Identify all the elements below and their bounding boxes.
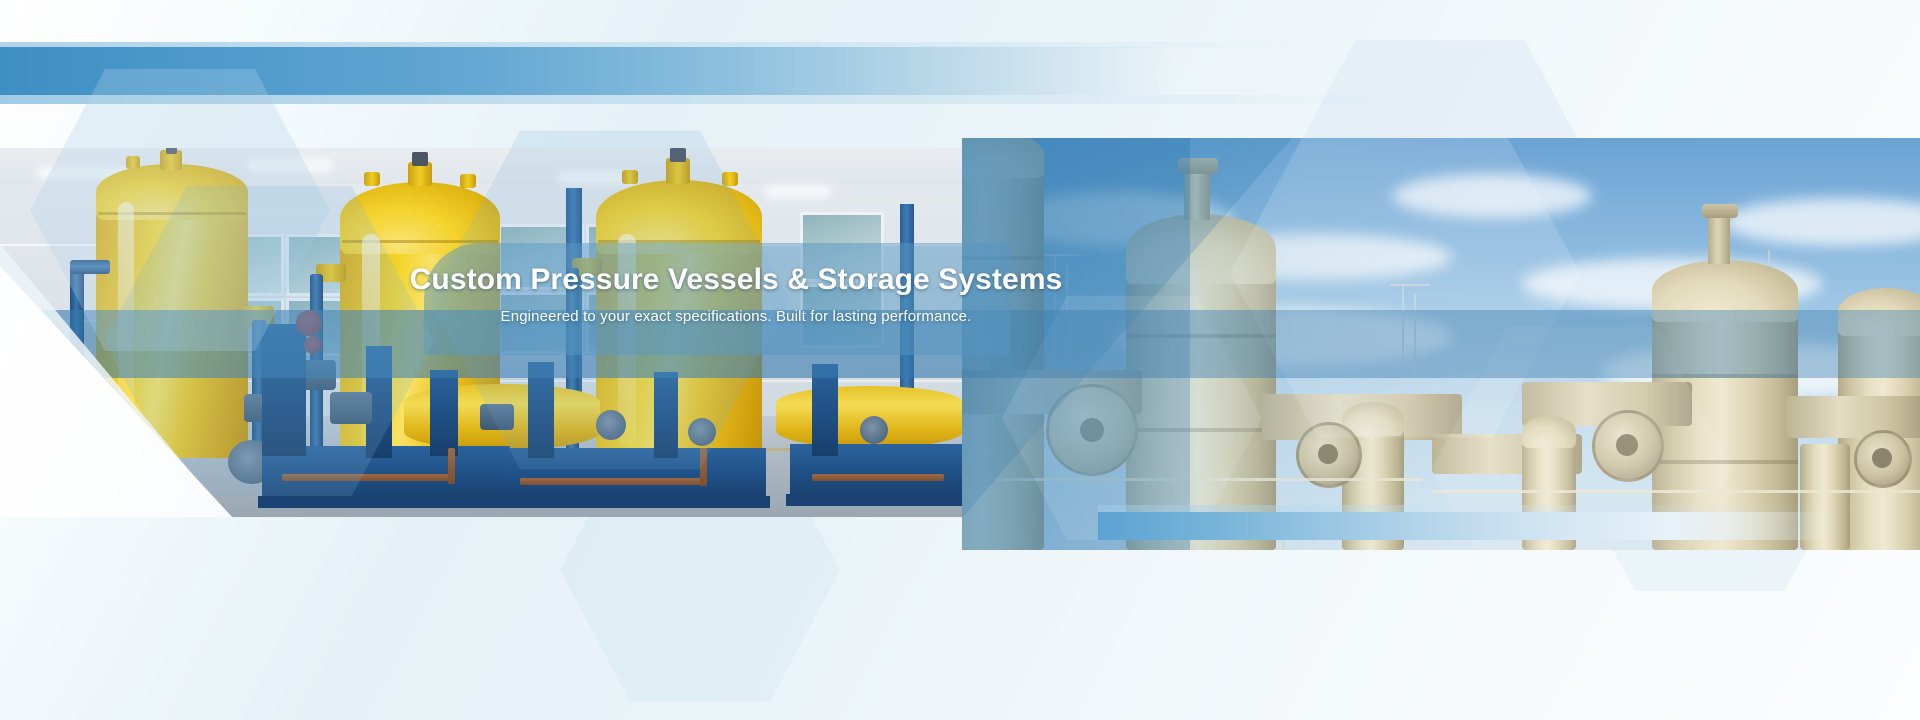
hero-copy: Custom Pressure Vessels & Storage System… [0,262,1472,325]
bottom-accent-stripe [1098,512,1920,540]
hero-banner: Custom Pressure Vessels & Storage System… [0,0,1920,720]
hero-headline: Custom Pressure Vessels & Storage System… [0,262,1472,297]
hero-subhead: Engineered to your exact specifications.… [0,308,1472,325]
